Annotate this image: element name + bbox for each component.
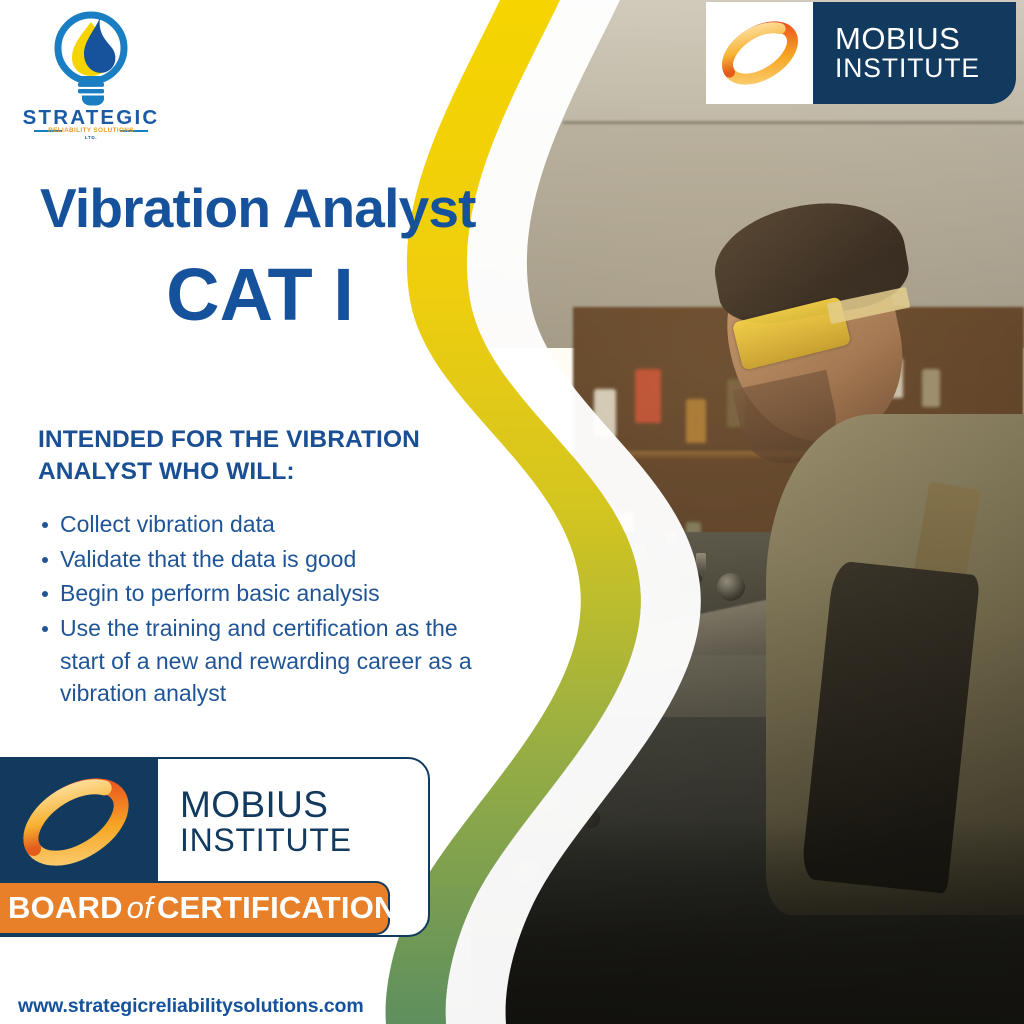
board-of-certification-badge: MOBIUS INSTITUTE BOARD of CERTIFICATION (0, 757, 430, 937)
strategic-reliability-logo: STRATEGIC RELIABILITY SOLUTIONS LTD. (22, 6, 160, 140)
bar-prefix: BOARD (8, 890, 123, 926)
strategic-tagline: RELIABILITY SOLUTIONS (22, 127, 160, 134)
badge-certification-bar: BOARD of CERTIFICATION (0, 881, 390, 935)
badge-line1: MOBIUS (180, 786, 428, 823)
audience-bullet-list: Collect vibration data Validate that the… (36, 508, 496, 712)
mobius-ring-mark (706, 2, 813, 104)
list-item: Collect vibration data (36, 508, 496, 541)
website-url[interactable]: www.strategicreliabilitysolutions.com (18, 995, 364, 1018)
list-item: Validate that the data is good (36, 543, 496, 576)
mobius-ring-icon (717, 14, 803, 92)
mobius-line1: MOBIUS (835, 23, 1016, 55)
badge-mobius-mark (0, 759, 158, 885)
bar-italic: of (123, 890, 157, 926)
mobius-ring-icon (13, 770, 139, 874)
mobius-name-panel: MOBIUS INSTITUTE (813, 2, 1016, 104)
list-item: Use the training and certification as th… (36, 612, 496, 710)
mobius-line2: INSTITUTE (835, 55, 1016, 83)
strategic-suffix: LTD. (22, 135, 160, 140)
list-item: Begin to perform basic analysis (36, 577, 496, 610)
mobius-institute-logo: MOBIUS INSTITUTE (706, 2, 1016, 104)
lightbulb-flame-icon (22, 6, 160, 106)
poster-canvas: STRATEGIC RELIABILITY SOLUTIONS LTD. (0, 0, 1024, 1024)
category-title: CAT I (40, 252, 480, 337)
page-title: Vibration Analyst (40, 176, 476, 240)
badge-line2: INSTITUTE (180, 823, 428, 858)
bar-suffix: CERTIFICATION (157, 890, 397, 926)
subheading: INTENDED FOR THE VIBRATION ANALYST WHO W… (38, 424, 478, 489)
